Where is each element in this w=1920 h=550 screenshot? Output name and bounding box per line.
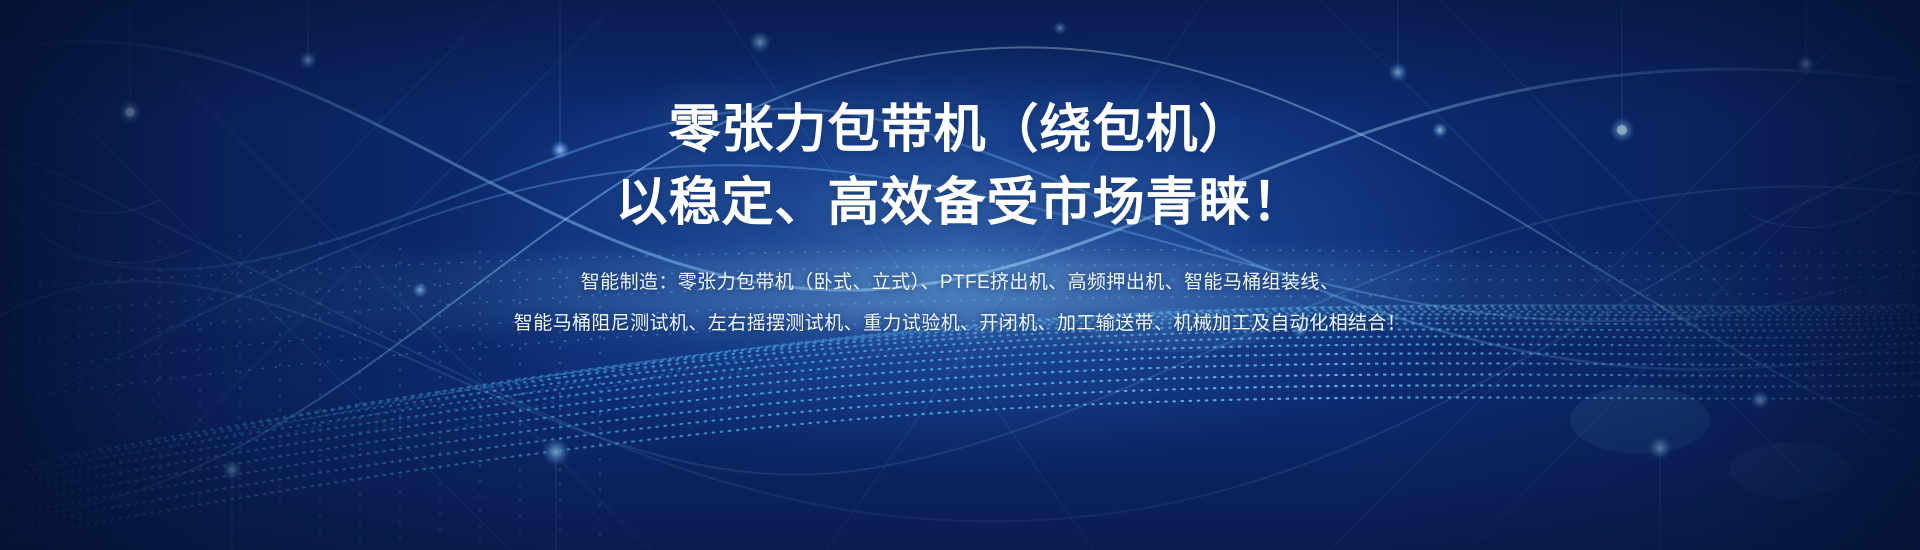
- headline-line-1: 零张力包带机（绕包机）: [668, 96, 1251, 165]
- banner-content: 零张力包带机（绕包机） 以稳定、高效备受市场青睐！ 智能制造：零张力包带机（卧式…: [0, 0, 1920, 550]
- subtitle-line-2: 智能马桶阻尼测试机、左右摇摆测试机、重力试验机、开闭机、加工输送带、机械加工及自…: [514, 304, 1406, 345]
- subtitle-line-1: 智能制造：零张力包带机（卧式、立式）、PTFE挤出机、高频押出机、智能马桶组装线…: [581, 263, 1339, 304]
- headline-line-2: 以稳定、高效备受市场青睐！: [615, 169, 1304, 238]
- hero-banner: 零张力包带机（绕包机） 以稳定、高效备受市场青睐！ 智能制造：零张力包带机（卧式…: [0, 0, 1920, 550]
